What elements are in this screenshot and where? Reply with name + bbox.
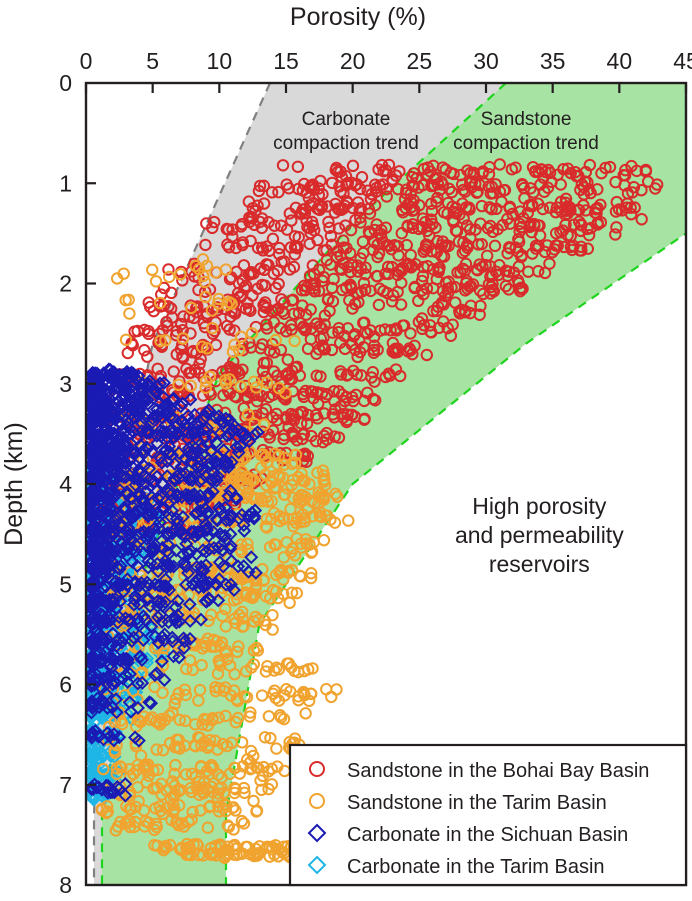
y-tick-label: 4	[59, 471, 72, 497]
x-tick-label: 20	[340, 48, 366, 74]
x-tick-label: 15	[273, 48, 299, 74]
x-tick-label: 0	[80, 48, 93, 74]
x-tick-label: 45	[673, 48, 692, 74]
y-tick-label: 5	[59, 571, 72, 597]
legend-label: Sandstone in the Tarim Basin	[347, 792, 607, 814]
legend-item[interactable]: Sandstone in the Bohai Bay Basin	[310, 760, 649, 782]
legend-item[interactable]: Carbonate in the Sichuan Basin	[309, 824, 628, 846]
y-tick-label: 1	[59, 170, 72, 196]
x-axis-title: Porosity (%)	[290, 3, 426, 31]
legend-item[interactable]: Sandstone in the Tarim Basin	[310, 792, 607, 814]
y-tick-label: 3	[59, 371, 72, 397]
legend-label: Carbonate in the Tarim Basin	[347, 856, 605, 878]
x-tick-label: 5	[146, 48, 159, 74]
legend-label: Carbonate in the Sichuan Basin	[347, 824, 628, 846]
porosity-depth-figure: Porosity (%) Depth (km) Carbonatecompact…	[0, 0, 692, 901]
y-tick-label: 2	[59, 271, 72, 297]
y-tick-label: 7	[59, 772, 72, 798]
legend-item[interactable]: Carbonate in the Tarim Basin	[309, 856, 605, 878]
x-tick-label: 40	[607, 48, 633, 74]
x-tick-label: 30	[473, 48, 499, 74]
y-tick-label: 6	[59, 672, 72, 698]
legend-label: Sandstone in the Bohai Bay Basin	[347, 760, 649, 782]
y-axis-title: Depth (km)	[0, 422, 28, 546]
legend: Sandstone in the Bohai Bay BasinSandston…	[290, 745, 686, 885]
x-tick-label: 10	[207, 48, 233, 74]
y-tick-label: 0	[59, 70, 72, 96]
y-tick-label: 8	[59, 872, 72, 898]
x-tick-label: 35	[540, 48, 566, 74]
porosity-depth-scatter-chart: Porosity (%) Depth (km) Carbonatecompact…	[0, 0, 692, 901]
x-tick-label: 25	[407, 48, 433, 74]
